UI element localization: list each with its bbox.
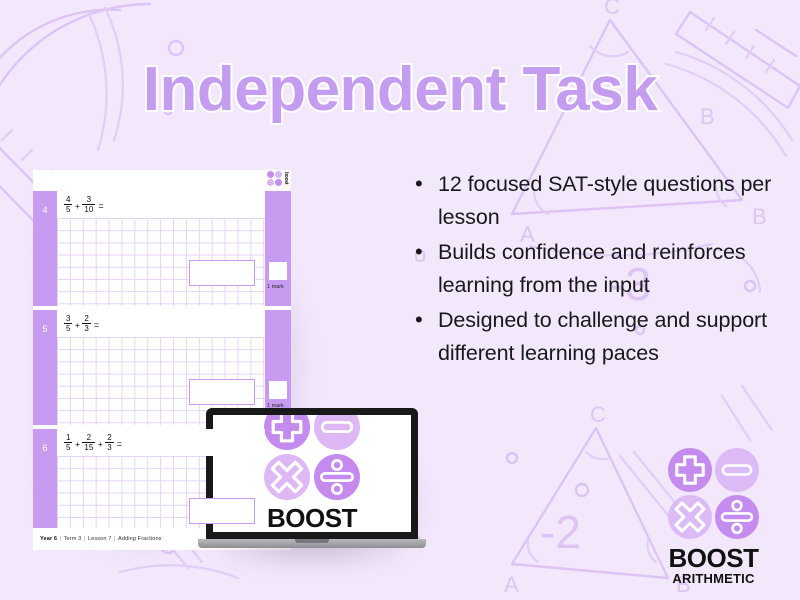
logo-wordmark: BOOST [267,505,357,531]
fraction: 3 5 [64,314,72,333]
operator-circles [668,448,759,539]
fraction-denominator: 5 [64,204,72,214]
fraction-numerator: 2 [85,433,93,442]
plus-circle-icon [267,171,274,178]
question-row: 4 4 5 + 3 10 = [33,191,291,306]
operator: + [75,201,80,211]
times-icon [264,454,310,500]
worksheet-brand-label: boost [283,172,289,184]
plus-icon [264,415,310,450]
logo-subwordmark: ARITHMETIC [268,532,356,533]
fraction: 1 5 [64,433,72,452]
footer-lesson: Lesson 7 [88,536,112,542]
fraction-numerator: 3 [64,314,72,323]
fraction-numerator: 1 [64,433,72,442]
operator: + [75,320,80,330]
minus-icon [314,415,360,450]
footer-separator: | [114,536,116,542]
fraction-numerator: 3 [85,195,93,204]
slide-canvas: .dl { fill: none; stroke: #ddc4f4; strok… [0,0,800,600]
worksheet-brand-logo: boost [267,171,289,186]
equals-sign: = [117,439,122,449]
svg-text:-2: -2 [540,506,581,558]
minus-icon [715,448,759,492]
bullet-item: Designed to challenge and support differ… [408,304,780,370]
bullet-item: 12 focused SAT-style questions per lesso… [408,168,780,234]
footer-term: Term 3 [64,536,82,542]
equals-sign: = [98,201,103,211]
fraction-numerator: 2 [82,314,90,323]
footer-topic: Adding Fractions [118,536,162,542]
laptop-notch [295,539,329,543]
fraction-denominator: 3 [82,323,90,333]
corner-boost-logo: BOOST ARITHMETIC [668,448,759,585]
footer-separator: | [60,536,62,542]
mark-column: 1 mark [265,191,291,306]
logo-subwordmark: ARITHMETIC [672,572,754,585]
minus-circle-icon [275,171,282,178]
question-body: 4 5 + 3 10 = [57,191,265,306]
answer-box[interactable] [189,498,255,524]
fraction-numerator: 4 [64,195,72,204]
svg-text:A: A [504,572,519,597]
divide-icon [314,454,360,500]
footer-year: Year 6 [40,536,57,542]
operator: + [98,439,103,449]
mark-box [269,262,287,280]
fraction: 4 5 [64,195,72,214]
logo-wordmark: BOOST [669,545,759,571]
times-circle-icon [267,179,274,186]
mark-label: 1 mark [267,284,284,290]
divide-circle-icon [275,179,282,186]
fraction-denominator: 5 [64,323,72,333]
fraction-denominator: 5 [64,442,72,452]
fraction-denominator: 15 [82,442,95,452]
question-expression: 4 5 + 3 10 = [57,191,265,218]
mark-box [269,381,287,399]
question-expression: 1 5 + 2 15 + 2 3 = [57,429,265,456]
boost-arithmetic-logo: BOOST ARITHMETIC [264,415,360,532]
svg-text:C: C [604,0,620,19]
equals-sign: = [94,320,99,330]
worksheet-header: boost [33,170,291,191]
question-number: 5 [33,310,57,425]
fraction-denominator: 3 [105,442,113,452]
answer-box[interactable] [189,379,255,405]
brand-circles-icon [267,171,282,186]
operator-circles [264,415,360,500]
operator: + [75,439,80,449]
fraction: 2 3 [82,314,90,333]
divide-icon [715,495,759,539]
answer-box[interactable] [189,260,255,286]
plus-icon [668,448,712,492]
fraction: 2 15 [82,433,95,452]
question-number: 4 [33,191,57,306]
question-number: 6 [33,429,57,544]
page-title: Independent Task [0,54,800,125]
fraction-denominator: 10 [82,204,95,214]
svg-text:C: C [590,402,606,427]
fraction-numerator: 2 [105,433,113,442]
bullet-list: 12 focused SAT-style questions per lesso… [408,168,780,372]
question-expression: 3 5 + 2 3 = [57,310,265,337]
fraction: 3 10 [82,195,95,214]
fraction: 2 3 [105,433,113,452]
bullet-item: Builds confidence and reinforces learnin… [408,236,780,302]
times-icon [668,495,712,539]
footer-separator: | [84,536,86,542]
